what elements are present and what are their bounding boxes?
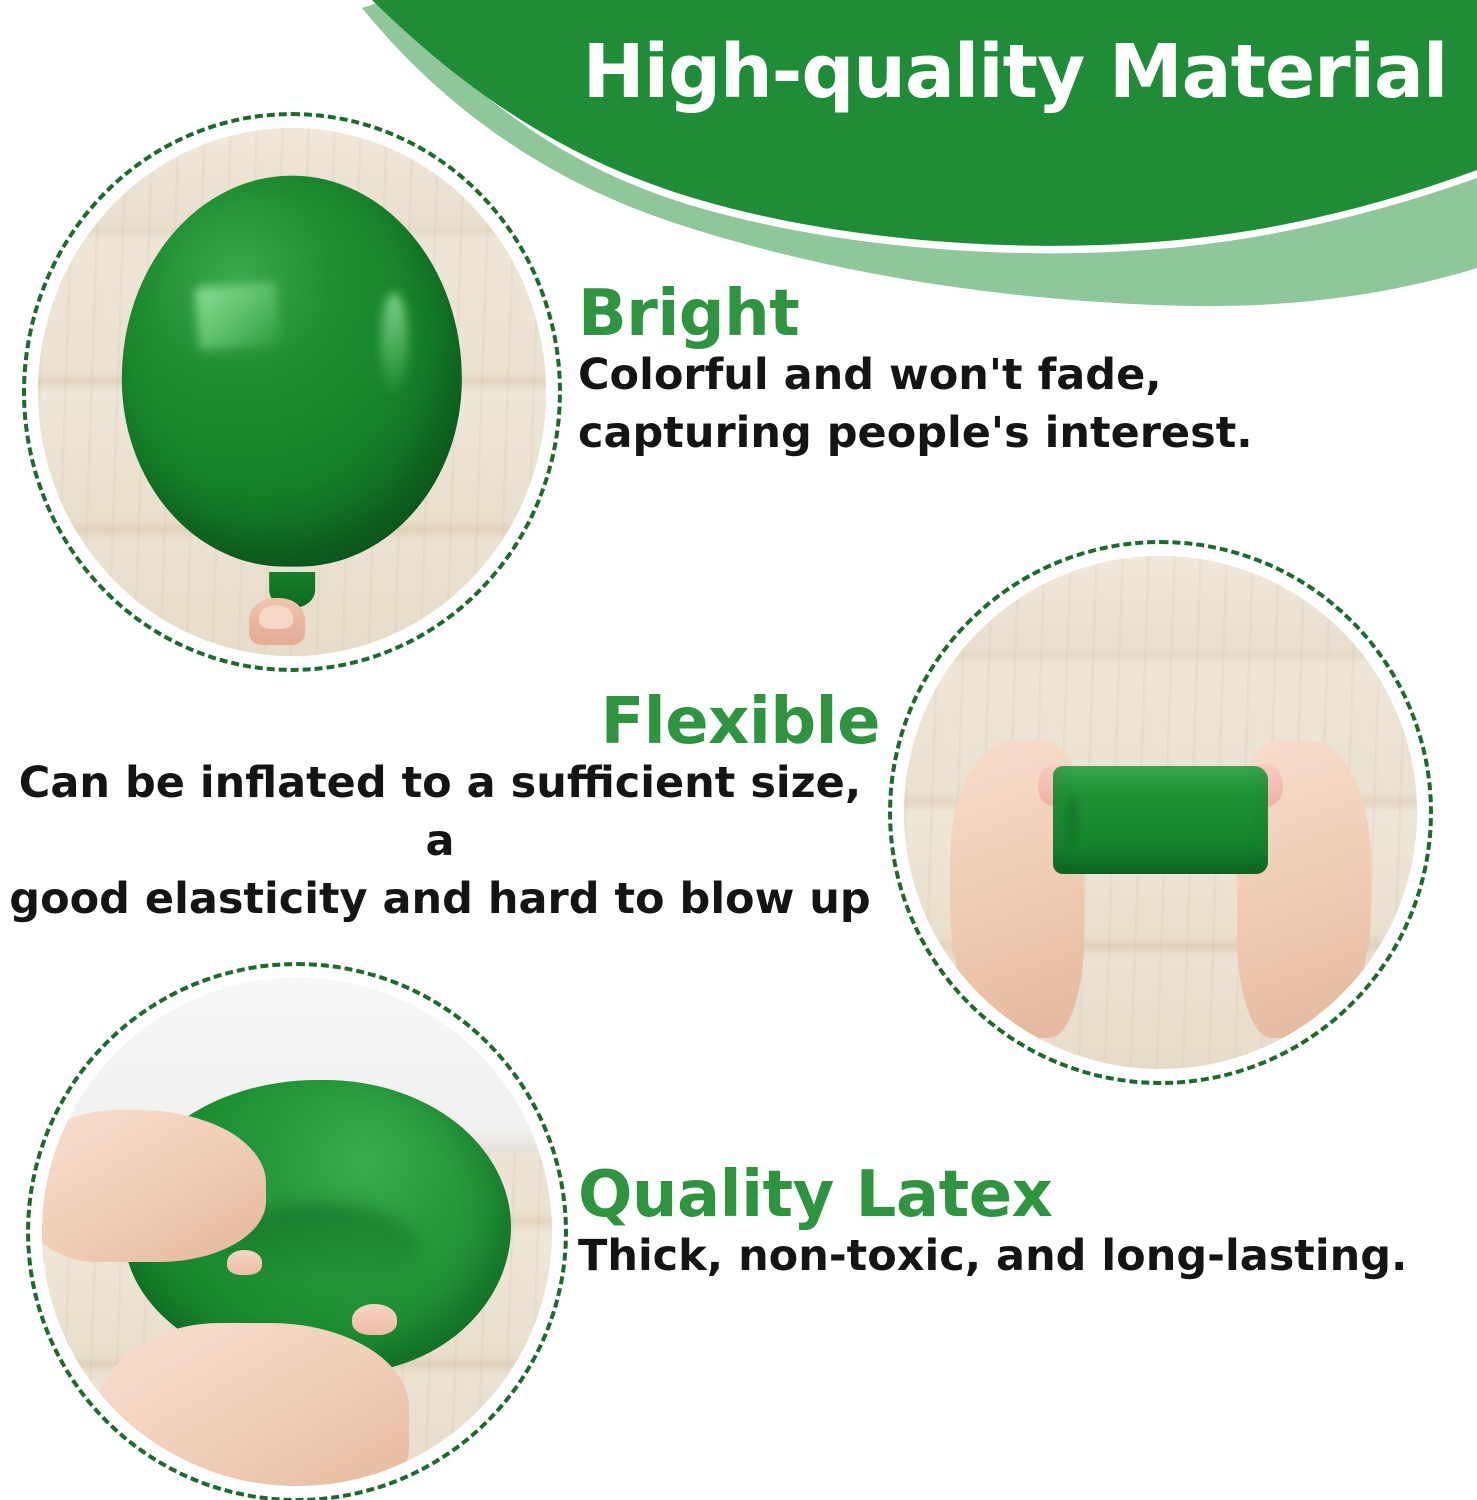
balloon-icon <box>122 176 462 567</box>
feature-body-bright: Colorful and won't fade, capturing peopl… <box>578 346 1358 462</box>
thumb-icon <box>352 1304 396 1335</box>
fingertip-icon <box>249 598 305 646</box>
page-title: High-quality Material <box>560 34 1470 112</box>
feature-heading-flexible: Flexible <box>0 690 880 754</box>
feature-body-quality-latex: Thick, non-toxic, and long-lasting. <box>578 1227 1408 1285</box>
feature-body-line: good elasticity and hard to blow up <box>0 870 880 928</box>
feature-body-line: Can be inflated to a sufficient size, a <box>0 754 880 870</box>
photo-bright-balloon <box>38 128 546 656</box>
feature-heading-quality-latex: Quality Latex <box>578 1163 1408 1227</box>
feature-block-flexible: Flexible Can be inflated to a sufficient… <box>0 690 880 928</box>
feature-body-flexible: Can be inflated to a sufficient size, a … <box>0 754 880 928</box>
photo-circle-flexible <box>888 540 1433 1085</box>
feature-body-line: Colorful and won't fade, <box>578 346 1358 404</box>
feature-body-line: capturing people's interest. <box>578 404 1358 462</box>
photo-squeeze-balloon <box>42 978 552 1486</box>
hand-upper-icon <box>42 1110 266 1262</box>
feature-body-line: Thick, non-toxic, and long-lasting. <box>578 1227 1408 1285</box>
infographic-page: High-quality Material <box>0 0 1477 1500</box>
photo-circle-bright <box>22 112 562 672</box>
thumb-icon <box>227 1250 261 1274</box>
feature-heading-bright: Bright <box>578 282 1358 346</box>
photo-stretch-balloon <box>904 556 1417 1069</box>
feature-block-bright: Bright Colorful and won't fade, capturin… <box>578 282 1358 462</box>
photo-circle-quality-latex <box>26 962 568 1500</box>
feature-block-quality-latex: Quality Latex Thick, non-toxic, and long… <box>578 1163 1408 1285</box>
hand-lower-icon <box>93 1323 409 1486</box>
stretched-latex-icon <box>1053 766 1268 874</box>
